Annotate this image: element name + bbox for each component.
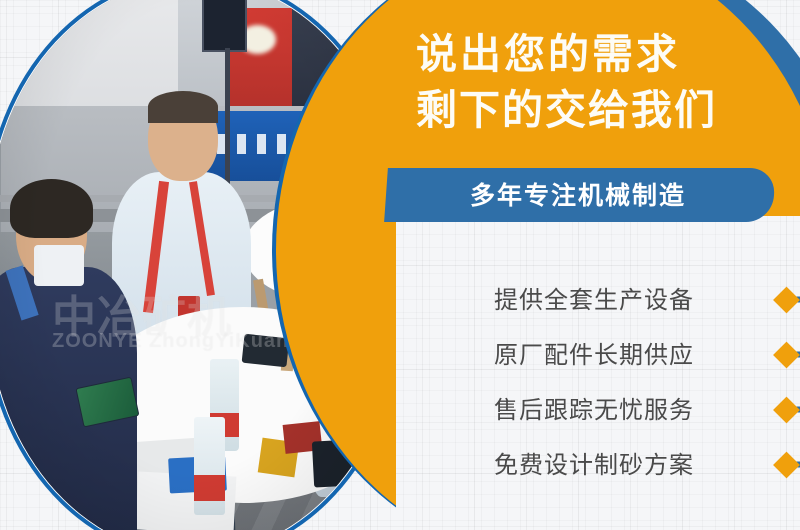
feature-item: 售后跟踪无忧服务 [494, 382, 800, 437]
feature-label: 原厂配件长期供应 [494, 340, 694, 370]
feature-item: 免费设计制砂方案 [494, 437, 800, 492]
diamond-bar-marker-icon [777, 455, 800, 474]
diamond-icon [773, 286, 800, 313]
diamond-icon [773, 396, 800, 423]
promo-banner: 中冶矿机 ZOONYE ZhongYiKuangJi 多年专注机械制造 说出您的… [0, 0, 800, 530]
diamond-bar-marker-icon [777, 345, 800, 364]
feature-item: 原厂配件长期供应 [494, 327, 800, 382]
headline: 说出您的需求 剩下的交给我们 [416, 26, 786, 138]
tagline-text: 多年专注机械制造 [470, 174, 800, 218]
diamond-icon [773, 451, 800, 478]
feature-list: 提供全套生产设备 原厂配件长期供应 售后跟踪无忧服务 免费设计制砂方案 [494, 272, 800, 492]
feature-item: 提供全套生产设备 [494, 272, 800, 327]
feature-label: 免费设计制砂方案 [494, 450, 694, 480]
feature-label: 售后跟踪无忧服务 [494, 395, 694, 425]
diamond-bar-marker-icon [777, 400, 800, 419]
headline-line-1: 说出您的需求 [416, 26, 786, 82]
diamond-bar-marker-icon [777, 290, 800, 309]
feature-label: 提供全套生产设备 [494, 285, 694, 315]
headline-line-2: 剩下的交给我们 [416, 82, 786, 138]
diamond-icon [773, 341, 800, 368]
